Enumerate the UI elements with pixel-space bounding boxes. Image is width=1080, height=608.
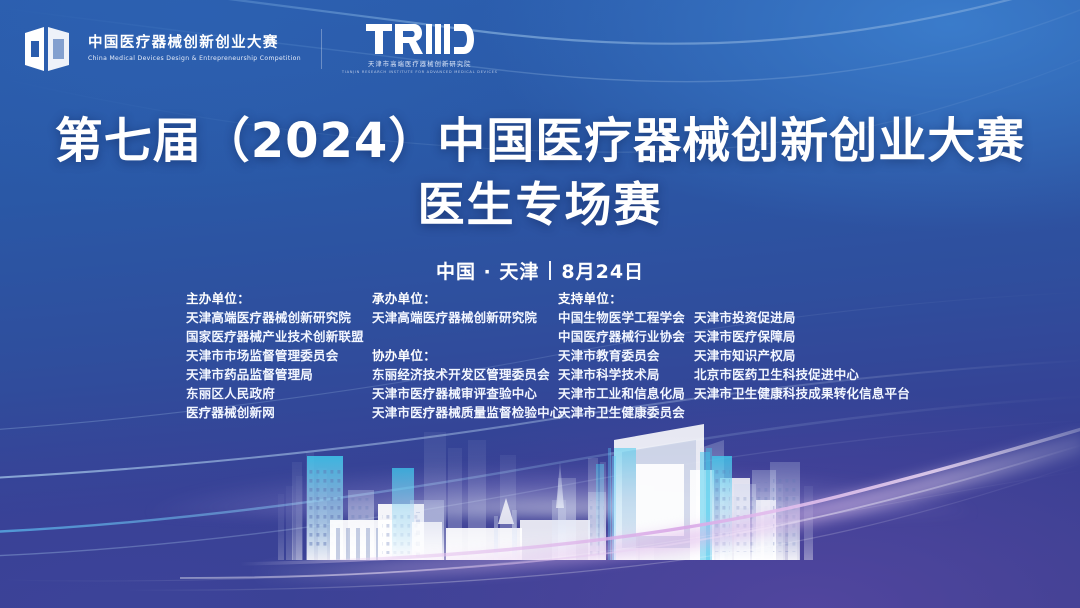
trimd-logo: 天津市高端医疗器械创新研究院 TIANJIN RESEARCH INSTITUT… [342,24,498,74]
list-item: 天津市医疗器械审评查验中心 [372,384,558,403]
event-location: 中国 · 天津 [436,257,539,284]
trimd-wordmark-icon [366,24,474,56]
organizers-column-host: 主办单位： 天津高端医疗器械创新研究院 国家医疗器械产业技术创新联盟 天津市市场… [186,289,372,422]
list-item: 国家医疗器械产业技术创新联盟 [186,327,372,346]
skyline-glow [0,446,1080,516]
list-item: 医疗器械创新网 [186,403,372,422]
organizers-column-undertaker: 承办单位： 天津高端医疗器械创新研究院 协办单位： 东丽经济技术开发区管理委员会… [372,289,558,422]
list-item: 天津市医疗保障局 [694,327,904,346]
list-item: 东丽经济技术开发区管理委员会 [372,365,558,384]
column-spacer [372,327,558,346]
list-item: 天津市工业和信息化局 [558,384,694,403]
list-item: 天津市投资促进局 [694,308,904,327]
competition-name-en: China Medical Devices Design & Entrepren… [88,55,301,62]
list-item: 天津市卫生健康委员会 [558,403,694,422]
list-item: 东丽区人民政府 [186,384,372,403]
header-logos: 中国医疗器械创新创业大赛 China Medical Devices Desig… [22,24,498,74]
list-item: 天津市市场监督管理委员会 [186,346,372,365]
column-spacer [694,289,904,308]
event-subtitle: 中国 · 天津 8月24日 [0,257,1080,284]
list-item: 天津市科学技术局 [558,365,694,384]
competition-logo-text: 中国医疗器械创新创业大赛 China Medical Devices Desig… [88,35,301,62]
main-title-line2: 医生专场赛 [0,177,1080,236]
list-item: 天津市药品监督管理局 [186,365,372,384]
list-item: 天津市教育委员会 [558,346,694,365]
support-heading: 支持单位： [558,289,694,308]
trimd-name-en: TIANJIN RESEARCH INSTITUTE FOR ADVANCED … [342,70,498,74]
organizers-column-support-a: 支持单位： 中国生物医学工程学会 中国医疗器械行业协会 天津市教育委员会 天津市… [558,289,694,422]
list-item: 天津高端医疗器械创新研究院 [186,308,372,327]
coorganizer-heading: 协办单位： [372,346,558,365]
undertaker-heading: 承办单位： [372,289,558,308]
list-item: 天津市卫生健康科技成果转化信息平台 [694,384,904,403]
list-item: 中国生物医学工程学会 [558,308,694,327]
open-door-logo-icon [22,25,74,73]
competition-name-cn: 中国医疗器械创新创业大赛 [88,35,301,52]
event-date: 8月24日 [561,257,644,284]
main-title-line1: 第七届（2024）中国医疗器械创新创业大赛 [0,112,1080,171]
title-block: 第七届（2024）中国医疗器械创新创业大赛 医生专场赛 中国 · 天津 8月24… [0,112,1080,284]
list-item: 中国医疗器械行业协会 [558,327,694,346]
organizations-block: 主办单位： 天津高端医疗器械创新研究院 国家医疗器械产业技术创新联盟 天津市市场… [186,289,904,422]
list-item: 天津市医疗器械质量监督检验中心 [372,403,558,422]
list-item: 北京市医药卫生科技促进中心 [694,365,904,384]
list-item: 天津市知识产权局 [694,346,904,365]
list-item: 天津高端医疗器械创新研究院 [372,308,558,327]
trimd-name-cn: 天津市高端医疗器械创新研究院 [368,59,472,68]
subtitle-divider [549,261,551,280]
organizers-column-support-b: 天津市投资促进局 天津市医疗保障局 天津市知识产权局 北京市医药卫生科技促进中心… [694,289,904,422]
logo-divider [321,29,322,69]
host-heading: 主办单位： [186,289,372,308]
poster-canvas: 中国医疗器械创新创业大赛 China Medical Devices Desig… [0,0,1080,608]
